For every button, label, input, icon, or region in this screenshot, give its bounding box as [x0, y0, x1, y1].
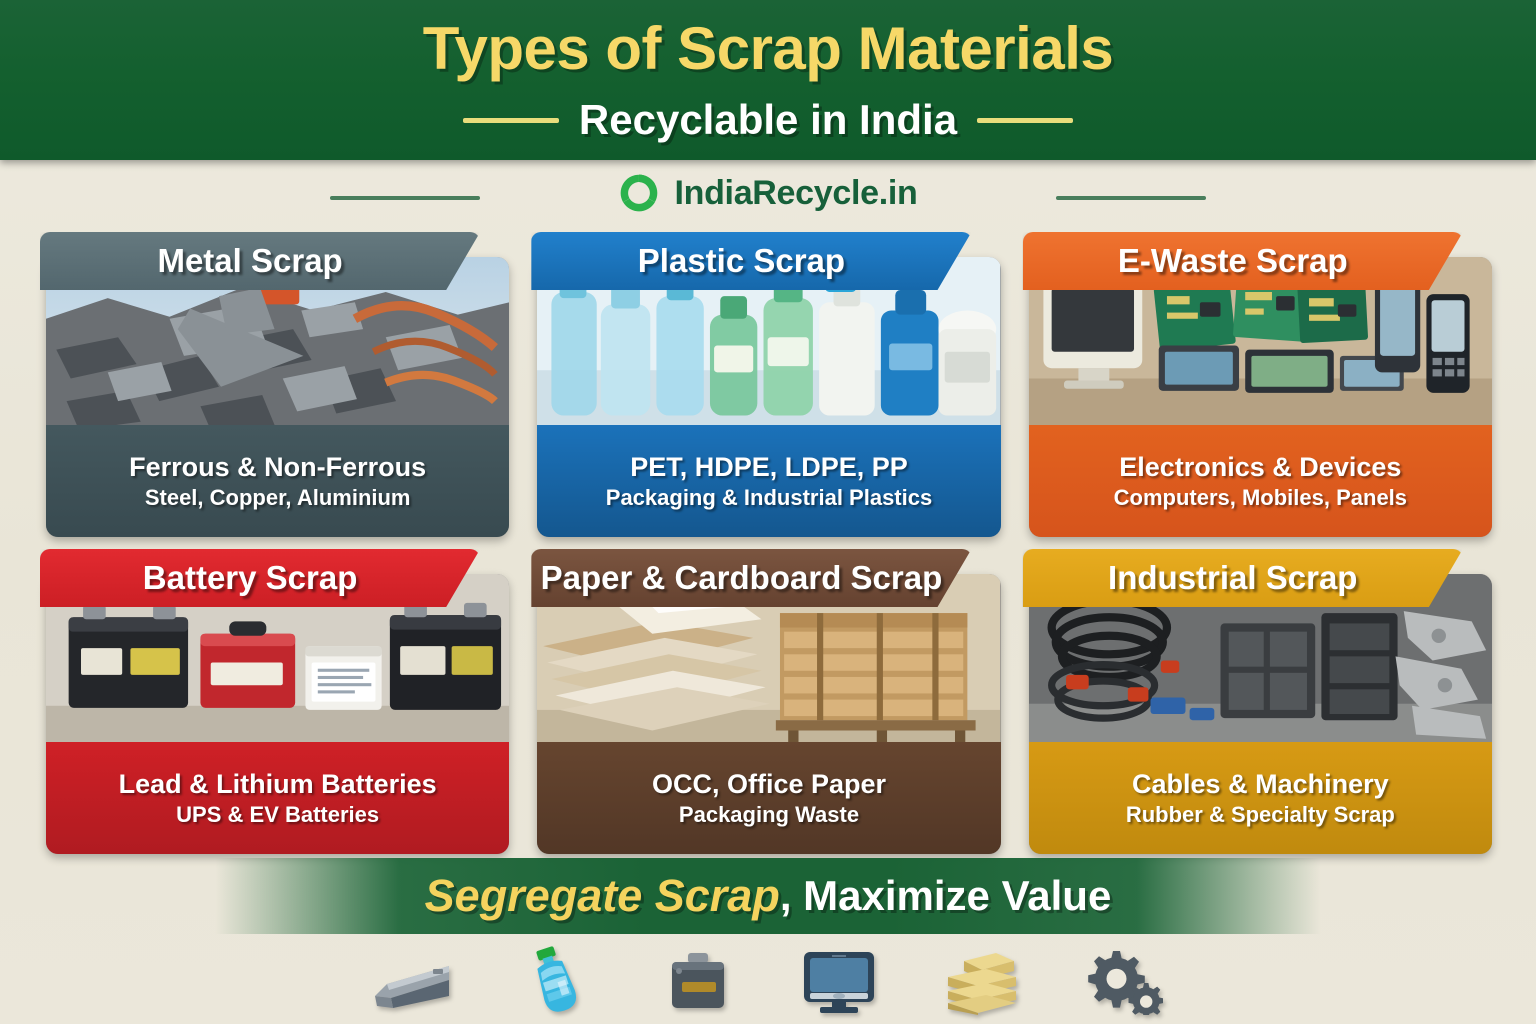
divider-left: [463, 118, 559, 123]
page-title: Types of Scrap Materials: [0, 14, 1536, 83]
card-footer: PET, HDPE, LDPE, PP Packaging & Industri…: [537, 425, 1000, 537]
card-main-text: Cables & Machinery: [1132, 769, 1389, 799]
brand-row[interactable]: IndiaRecycle.in: [0, 172, 1536, 214]
card-body: Lead & Lithium Batteries UPS & EV Batter…: [46, 574, 509, 854]
card-footer: Lead & Lithium Batteries UPS & EV Batter…: [46, 742, 509, 854]
card-banner[interactable]: Paper & Cardboard Scrap: [531, 549, 971, 607]
card-sub-text: Packaging Waste: [679, 802, 859, 827]
subtitle-row: Recyclable in India: [0, 96, 1536, 144]
card-sub-text: UPS & EV Batteries: [176, 802, 379, 827]
steel-beam-icon: [371, 942, 455, 1020]
card-ewaste-scrap[interactable]: Electronics & Devices Computers, Mobiles…: [1023, 232, 1496, 537]
card-main-text: PET, HDPE, LDPE, PP: [630, 452, 908, 482]
card-banner[interactable]: Battery Scrap: [40, 549, 480, 607]
card-footer: Electronics & Devices Computers, Mobiles…: [1029, 425, 1492, 537]
card-main-text: Ferrous & Non-Ferrous: [129, 452, 426, 482]
card-sub-text: Computers, Mobiles, Panels: [1114, 485, 1407, 510]
card-banner-label: Industrial Scrap: [1108, 559, 1357, 597]
card-industrial-scrap[interactable]: Cables & Machinery Rubber & Specialty Sc…: [1023, 549, 1496, 854]
card-plastic-scrap[interactable]: PET, HDPE, LDPE, PP Packaging & Industri…: [531, 232, 1004, 537]
card-banner[interactable]: Plastic Scrap: [531, 232, 971, 290]
brand-name: IndiaRecycle.in: [674, 174, 917, 213]
card-paper-scrap[interactable]: OCC, Office Paper Packaging Waste Paper …: [531, 549, 1004, 854]
card-battery-scrap[interactable]: Lead & Lithium Batteries UPS & EV Batter…: [40, 549, 513, 854]
card-banner[interactable]: Metal Scrap: [40, 232, 480, 290]
card-sub-text: Rubber & Specialty Scrap: [1126, 802, 1395, 827]
card-body: Ferrous & Non-Ferrous Steel, Copper, Alu…: [46, 257, 509, 537]
card-main-text: OCC, Office Paper: [652, 769, 886, 799]
card-footer: Cables & Machinery Rubber & Specialty Sc…: [1029, 742, 1492, 854]
card-banner-label: Paper & Cardboard Scrap: [541, 559, 943, 597]
tagline-rest: , Maximize Value: [780, 872, 1112, 920]
battery-icon: [655, 942, 739, 1020]
card-sub-text: Packaging & Industrial Plastics: [606, 485, 932, 510]
card-banner-label: Plastic Scrap: [638, 242, 845, 280]
card-footer: Ferrous & Non-Ferrous Steel, Copper, Alu…: [46, 425, 509, 537]
card-banner-label: Metal Scrap: [157, 242, 342, 280]
recycle-icon: [618, 172, 660, 214]
card-banner-label: Battery Scrap: [143, 559, 358, 597]
divider-right: [977, 118, 1073, 123]
card-body: PET, HDPE, LDPE, PP Packaging & Industri…: [537, 257, 1000, 537]
card-body: Electronics & Devices Computers, Mobiles…: [1029, 257, 1492, 537]
card-main-text: Lead & Lithium Batteries: [119, 769, 437, 799]
monitor-icon: [797, 942, 881, 1020]
page-subtitle: Recyclable in India: [579, 96, 957, 144]
card-body: Cables & Machinery Rubber & Specialty Sc…: [1029, 574, 1492, 854]
card-grid: Ferrous & Non-Ferrous Steel, Copper, Alu…: [40, 232, 1496, 854]
card-metal-scrap[interactable]: Ferrous & Non-Ferrous Steel, Copper, Alu…: [40, 232, 513, 537]
header-band: Types of Scrap Materials Recyclable in I…: [0, 0, 1536, 160]
gears-icon: [1081, 942, 1165, 1020]
card-banner[interactable]: E-Waste Scrap: [1023, 232, 1463, 290]
card-banner[interactable]: Industrial Scrap: [1023, 549, 1463, 607]
tagline-band: Segregate Scrap , Maximize Value: [0, 858, 1536, 934]
card-footer: OCC, Office Paper Packaging Waste: [537, 742, 1000, 854]
card-banner-label: E-Waste Scrap: [1118, 242, 1348, 280]
card-sub-text: Steel, Copper, Aluminium: [145, 485, 411, 510]
tagline-emphasis: Segregate Scrap: [425, 870, 780, 922]
icon-strip: [0, 938, 1536, 1024]
plastic-bottle-icon: [513, 942, 597, 1020]
card-body: OCC, Office Paper Packaging Waste: [537, 574, 1000, 854]
infographic-page: Types of Scrap Materials Recyclable in I…: [0, 0, 1536, 1024]
card-main-text: Electronics & Devices: [1119, 452, 1401, 482]
paper-bale-icon: [939, 942, 1023, 1020]
